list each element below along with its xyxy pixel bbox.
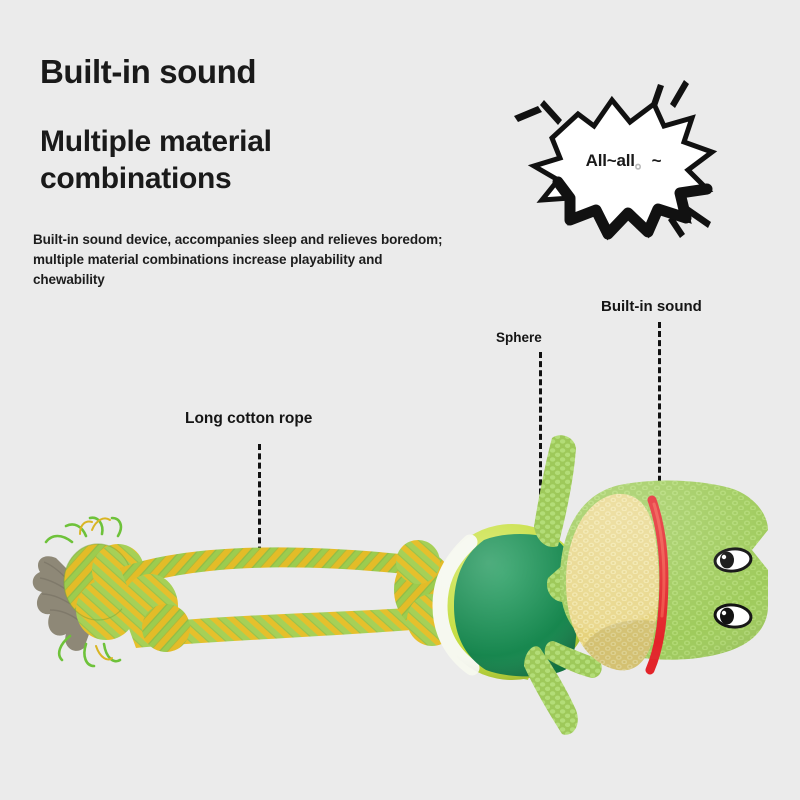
callout-label-long-cotton-rope: Long cotton rope (185, 410, 312, 428)
callout-label-built-in-sound: Built-in sound (601, 298, 702, 315)
description-text: Built-in sound device, accompanies sleep… (33, 230, 443, 290)
product-feature-graphic: Built-in sound Multiple material combina… (0, 0, 800, 800)
callout-label-sphere: Sphere (496, 330, 542, 345)
page-subtitle: Multiple material combinations (40, 124, 400, 197)
page-title: Built-in sound (40, 55, 256, 88)
starburst-shape (508, 78, 733, 243)
product-image-rope-frog-toy (0, 430, 800, 760)
rope-knot-middle (122, 574, 190, 652)
speech-bubble: All~all。~ (508, 78, 733, 243)
